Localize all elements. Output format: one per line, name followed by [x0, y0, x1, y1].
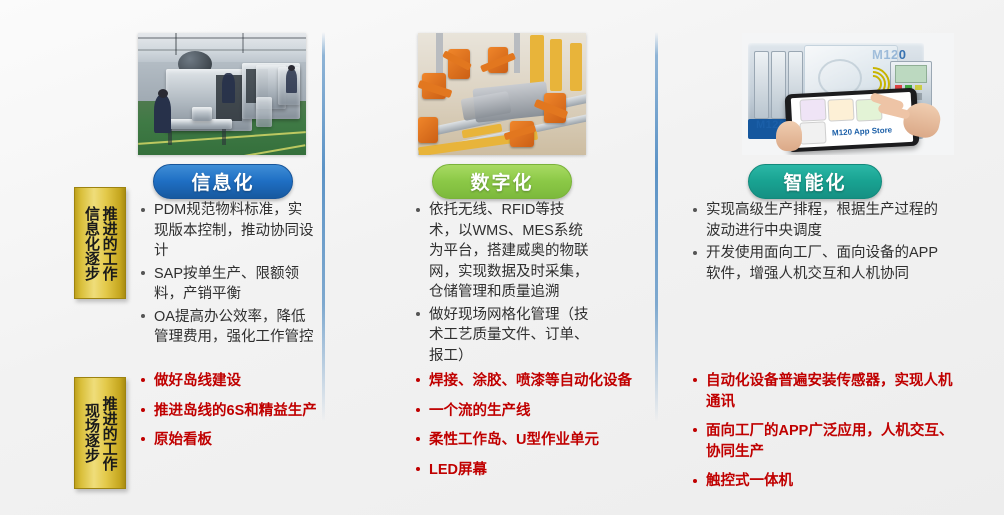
photo-tablet-app-store: M120 M120 M120 App Store — [742, 33, 954, 155]
heading-text-intelligentization: 智能化 — [783, 168, 846, 195]
bullet-list-digitalization: 依托无线、RFID等技术，以WMS、MES系统为平台，搭建威奥的物联网，实现数据… — [413, 200, 593, 369]
list-item: 触控式一体机 — [690, 471, 958, 492]
list-item: 做好岛线建设 — [138, 371, 318, 392]
list-item: 面向工厂的APP广泛应用，人机交互、协同生产 — [690, 421, 958, 462]
photo-cnc-machine-shop — [138, 33, 306, 155]
heading-text-informatization: 信息化 — [191, 168, 254, 195]
list-item: 原始看板 — [138, 430, 318, 451]
column-divider-1 — [322, 32, 325, 422]
heading-pill-intelligentization[interactable]: 智能化 — [748, 164, 882, 199]
stage-label-onsite-secondary: 现场逐步 — [83, 403, 99, 463]
list-item: OA提高办公效率，降低管理费用，强化工作管控 — [138, 307, 316, 348]
list-item: 依托无线、RFID等技术，以WMS、MES系统为平台，搭建威奥的物联网，实现数据… — [413, 200, 593, 303]
red-bullet-list-intelligentization: 自动化设备普遍安装传感器，实现人机通讯 面向工厂的APP广泛应用，人机交互、协同… — [690, 371, 958, 501]
list-item: 开发使用面向工厂、面向设备的APP软件，增强人机交互和人机协同 — [690, 243, 942, 284]
stage-label-onsite: 推进的工作 现场逐步 — [74, 377, 126, 489]
list-item: 实现高级生产排程，根据生产过程的波动进行中央调度 — [690, 200, 942, 241]
stage-label-informatization-primary: 推进的工作 — [101, 206, 117, 281]
list-item: LED屏幕 — [413, 460, 653, 481]
column-divider-2 — [655, 32, 658, 422]
stage-label-informatization-secondary: 信息化逐步 — [83, 206, 99, 281]
photo-robotic-welding-line — [418, 33, 586, 155]
stage-label-informatization: 推进的工作 信息化逐步 — [74, 187, 126, 299]
list-item: 焊接、涂胶、喷漆等自动化设备 — [413, 371, 653, 392]
list-item: SAP按单生产、限额领料，产销平衡 — [138, 264, 316, 305]
list-item: 推进岛线的6S和精益生产 — [138, 401, 318, 422]
heading-pill-digitalization[interactable]: 数字化 — [432, 164, 572, 199]
list-item: 做好现场网格化管理（技术工艺质量文件、订单、报工） — [413, 305, 593, 367]
red-bullet-list-digitalization: 焊接、涂胶、喷漆等自动化设备 一个流的生产线 柔性工作岛、U型作业单元 LED屏… — [413, 371, 653, 489]
bullet-list-intelligentization: 实现高级生产排程，根据生产过程的波动进行中央调度 开发使用面向工厂、面向设备的A… — [690, 200, 942, 286]
stage-label-onsite-primary: 推进的工作 — [101, 396, 117, 471]
bullet-list-informatization: PDM规范物料标准，实现版本控制，推动协同设计 SAP按单生产、限额领料，产销平… — [138, 200, 316, 350]
red-bullet-list-informatization: 做好岛线建设 推进岛线的6S和精益生产 原始看板 — [138, 371, 318, 460]
list-item: 柔性工作岛、U型作业单元 — [413, 430, 653, 451]
list-item: PDM规范物料标准，实现版本控制，推动协同设计 — [138, 200, 316, 262]
heading-pill-informatization[interactable]: 信息化 — [153, 164, 293, 199]
heading-text-digitalization: 数字化 — [470, 168, 533, 195]
list-item: 一个流的生产线 — [413, 401, 653, 422]
slide-canvas: 推进的工作 信息化逐步 推进的工作 现场逐步 — [0, 0, 1004, 515]
list-item: 自动化设备普遍安装传感器，实现人机通讯 — [690, 371, 958, 412]
